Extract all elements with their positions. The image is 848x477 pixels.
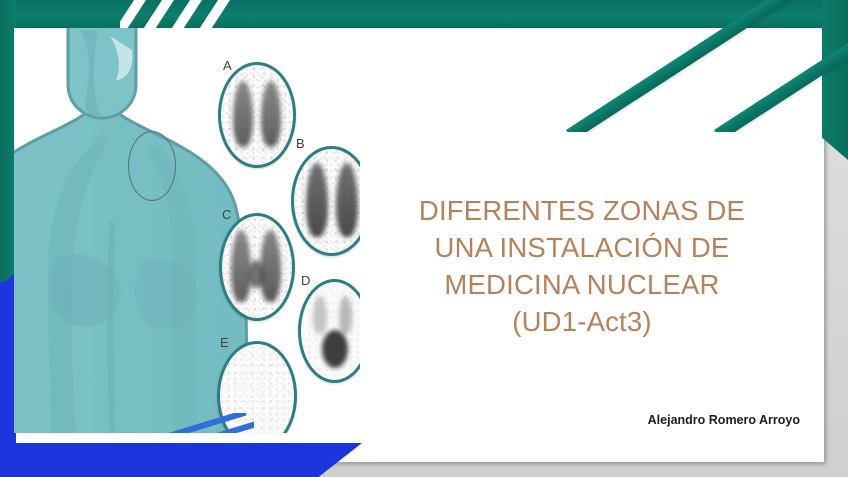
scan-label-a: A <box>223 58 232 73</box>
stripe-decoration <box>44 413 247 433</box>
title-line: (UD1-Act3) <box>372 303 792 340</box>
author-name: Alejandro Romero Arroyo <box>440 413 822 427</box>
stripe-decoration <box>566 0 848 132</box>
thyroid-scintigraphy-illustration: A B C D E <box>14 28 360 433</box>
top-left-diagonal-slashes <box>120 0 270 29</box>
scan-noise-texture <box>221 65 293 165</box>
scan-oval-d <box>298 279 360 383</box>
scan-label-e: E <box>220 335 229 350</box>
title-line: UNA INSTALACIÓN DE <box>372 229 792 266</box>
presentation-slide: A B C D E <box>0 0 848 477</box>
scan-oval-a <box>218 62 296 168</box>
scan-label-d: D <box>301 273 310 288</box>
thyroid-region-marker <box>128 131 176 201</box>
slash-decoration <box>195 0 242 29</box>
top-right-diagonal-stripes <box>518 0 848 132</box>
slide-title: DIFERENTES ZONAS DE UNA INSTALACIÓN DE M… <box>372 192 792 340</box>
title-line: MEDICINA NUCLEAR <box>372 266 792 303</box>
scan-oval-c <box>219 213 295 321</box>
human-torso-graphic <box>14 28 252 433</box>
scan-label-b: B <box>296 136 305 151</box>
bottom-left-blue-stripes <box>44 413 254 433</box>
scan-label-c: C <box>222 207 231 222</box>
scan-oval-b <box>291 146 360 256</box>
title-line: DIFERENTES ZONAS DE <box>372 192 792 229</box>
bottom-blue-bar <box>0 443 362 477</box>
